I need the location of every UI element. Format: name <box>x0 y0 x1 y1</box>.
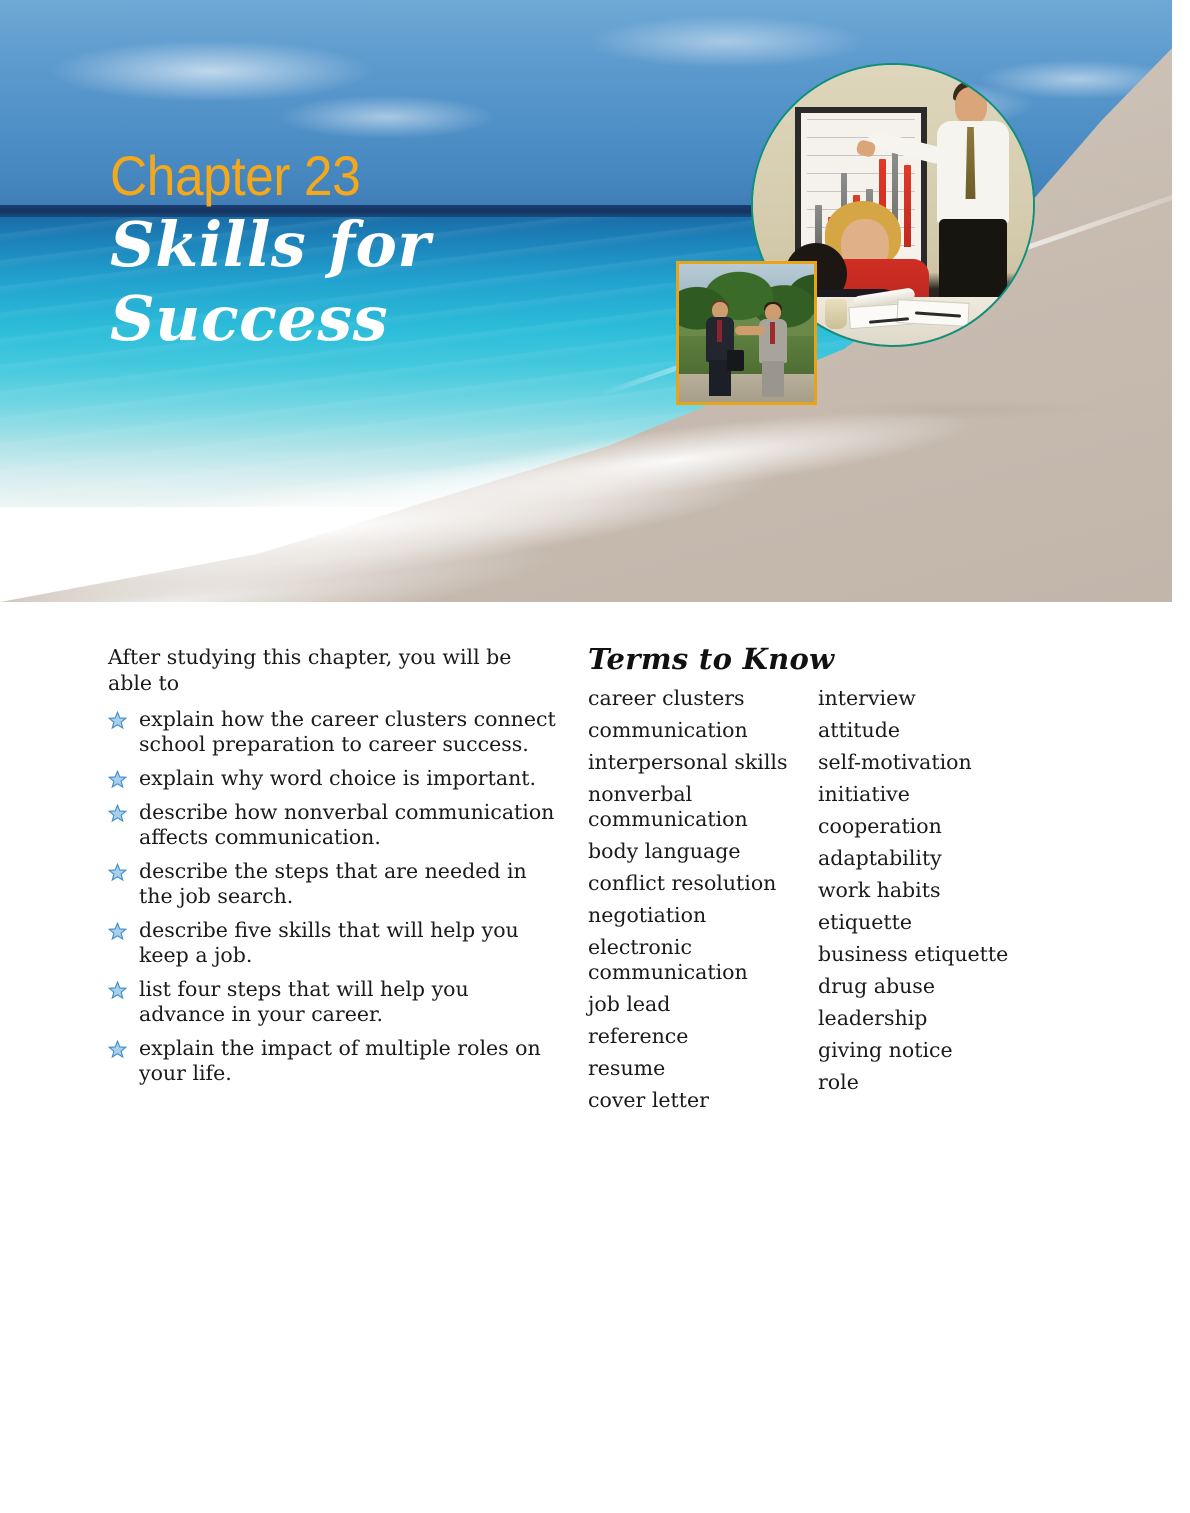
table-papers <box>849 301 999 331</box>
terms-column-left: career clusters communication interperso… <box>588 686 818 1120</box>
terms-columns: career clusters communication interperso… <box>588 686 1048 1120</box>
term-item: job lead <box>588 992 818 1017</box>
chapter-number-label: Chapter 23 <box>110 148 405 204</box>
businessman-gray-suit <box>756 304 790 394</box>
term-item: reference <box>588 1024 818 1049</box>
objective-item: explain how the career clusters connect … <box>108 707 560 757</box>
chapter-title-block: Chapter 23 Skills for Success <box>110 148 431 356</box>
term-item: interview <box>818 686 1048 711</box>
term-item: self-motivation <box>818 750 1048 775</box>
objective-item: describe how nonverbal communication aff… <box>108 800 560 850</box>
star-icon <box>108 804 127 823</box>
learning-objectives-section: After studying this chapter, you will be… <box>108 644 560 1095</box>
term-item: cooperation <box>818 814 1048 839</box>
terms-column-right: interview attitude self-motivation initi… <box>818 686 1048 1120</box>
term-item: role <box>818 1070 1048 1095</box>
term-item: conflict resolution <box>588 871 818 896</box>
handshake-hands <box>735 326 765 335</box>
term-item: electronic communication <box>588 935 818 985</box>
handshake-photo <box>676 261 817 405</box>
term-item: giving notice <box>818 1038 1048 1063</box>
objective-text: explain how the career clusters connect … <box>139 707 556 756</box>
objectives-list: explain how the career clusters connect … <box>108 707 560 1086</box>
presenter-figure <box>929 81 1017 309</box>
terms-list-right: interview attitude self-motivation initi… <box>818 686 1048 1095</box>
star-icon <box>108 770 127 789</box>
desk-cup <box>825 299 847 329</box>
terms-list-left: career clusters communication interperso… <box>588 686 818 1113</box>
objective-item: describe five skills that will help you … <box>108 918 560 968</box>
star-icon <box>108 981 127 1000</box>
objective-text: explain the impact of multiple roles on … <box>139 1036 541 1085</box>
briefcase <box>727 350 744 371</box>
term-item: attitude <box>818 718 1048 743</box>
objective-item: explain the impact of multiple roles on … <box>108 1036 560 1086</box>
star-icon <box>108 711 127 730</box>
term-item: interpersonal skills <box>588 750 818 775</box>
term-item: career clusters <box>588 686 818 711</box>
objective-text: list four steps that will help you advan… <box>139 977 469 1026</box>
term-item: cover letter <box>588 1088 818 1113</box>
term-item: initiative <box>818 782 1048 807</box>
objective-text: describe five skills that will help you … <box>139 918 519 967</box>
objective-text: describe how nonverbal communication aff… <box>139 800 554 849</box>
term-item: business etiquette <box>818 942 1048 967</box>
grass-lawn <box>679 336 814 377</box>
term-item: negotiation <box>588 903 818 928</box>
term-item: drug abuse <box>818 974 1048 999</box>
objective-text: explain why word choice is important. <box>139 766 536 790</box>
term-item: work habits <box>818 878 1048 903</box>
term-item: leadership <box>818 1006 1048 1031</box>
objective-item: describe the steps that are needed in th… <box>108 859 560 909</box>
terms-to-know-section: Terms to Know career clusters communicat… <box>588 642 1048 1120</box>
objectives-intro-text: After studying this chapter, you will be… <box>108 644 560 696</box>
chapter-hero-banner: Chapter 23 Skills for Success <box>0 0 1172 602</box>
term-item: communication <box>588 718 818 743</box>
walkway-path <box>679 374 814 402</box>
page-title: Skills for Success <box>110 208 431 356</box>
term-item: adaptability <box>818 846 1048 871</box>
objective-text: describe the steps that are needed in th… <box>139 859 527 908</box>
term-item: nonverbal communication <box>588 782 818 832</box>
star-icon <box>108 863 127 882</box>
term-item: body language <box>588 839 818 864</box>
businessman-dark-suit <box>703 302 737 394</box>
star-icon <box>108 922 127 941</box>
term-item: etiquette <box>818 910 1048 935</box>
term-item: resume <box>588 1056 818 1081</box>
terms-heading: Terms to Know <box>588 642 1048 676</box>
objective-item: explain why word choice is important. <box>108 766 560 791</box>
star-icon <box>108 1040 127 1059</box>
objective-item: list four steps that will help you advan… <box>108 977 560 1027</box>
